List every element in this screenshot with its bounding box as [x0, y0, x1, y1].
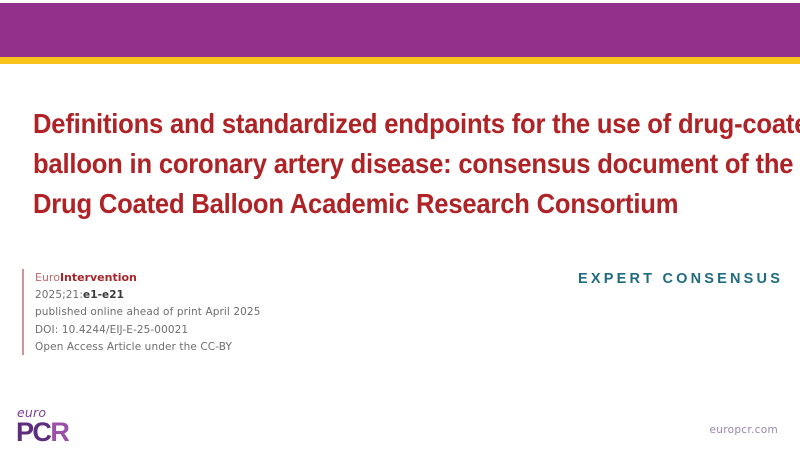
page-range: e1-e21: [83, 289, 124, 301]
logo-pcr-wordmark: PCR: [16, 419, 108, 446]
journal-name-suffix: Intervention: [60, 271, 137, 284]
volume-pages-line: 2025;21:e1-e21: [35, 287, 260, 304]
logo-letter-p: P: [16, 417, 32, 447]
volume-year: 2025;21:: [35, 289, 83, 301]
europcr-logo: euro PCR: [16, 406, 108, 446]
doi-line: DOI: 10.4244/EIJ-E-25-00021: [35, 322, 260, 339]
logo-letter-r: R: [50, 417, 68, 447]
header-purple-band: [0, 3, 800, 57]
license-line: Open Access Article under the CC-BY: [35, 339, 260, 356]
journal-name-prefix: Euro: [35, 271, 60, 284]
journal-name: EuroIntervention: [35, 269, 260, 287]
page-title: Definitions and standardized endpoints f…: [33, 104, 785, 224]
header-yellow-band: [0, 57, 800, 64]
footer-website-url[interactable]: europcr.com: [710, 424, 778, 436]
title-line-1: Definitions and standardized endpoints f…: [33, 104, 732, 144]
publication-status: published online ahead of print April 20…: [35, 304, 260, 321]
slide-canvas: Definitions and standardized endpoints f…: [0, 0, 800, 450]
title-line-2: balloon in coronary artery disease: cons…: [33, 144, 732, 184]
logo-letter-c: C: [32, 417, 50, 447]
status-badge: EXPERT CONSENSUS: [578, 271, 783, 287]
publication-metadata: EuroIntervention 2025;21:e1-e21 publishe…: [22, 269, 260, 355]
title-line-3: Drug Coated Balloon Academic Research Co…: [33, 184, 732, 224]
